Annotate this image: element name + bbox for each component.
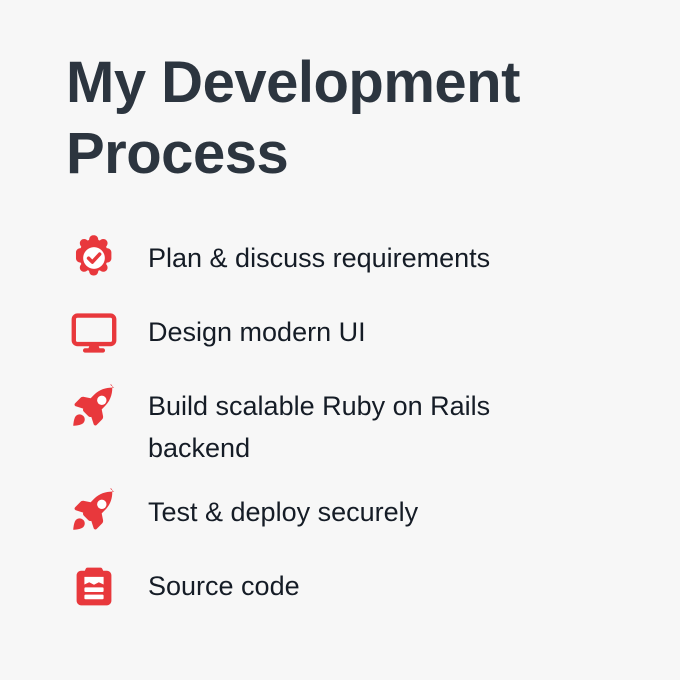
- development-process-card: My Development Process Plan & discuss re…: [0, 0, 680, 680]
- step-label: Source code: [148, 560, 578, 608]
- rocket-icon: [68, 382, 120, 434]
- step-label: Plan & discuss requirements: [148, 232, 578, 280]
- gear-check-icon: [68, 232, 120, 284]
- step-label: Build scalable Ruby on Rails backend: [148, 380, 578, 470]
- list-item: Build scalable Ruby on Rails backend: [0, 380, 680, 470]
- list-item: Plan & discuss requirements: [0, 232, 680, 290]
- step-label: Design modern UI: [148, 306, 578, 354]
- rocket-icon: [68, 486, 120, 538]
- step-label: Test & deploy securely: [148, 486, 578, 534]
- monitor-icon: [68, 306, 120, 358]
- list-item: Design modern UI: [0, 306, 680, 364]
- process-step-list: Plan & discuss requirements Design moder…: [0, 232, 680, 634]
- list-item: Test & deploy securely: [0, 486, 680, 544]
- clipboard-icon: [68, 560, 120, 612]
- page-title: My Development Process: [66, 48, 626, 190]
- list-item: Source code: [0, 560, 680, 618]
